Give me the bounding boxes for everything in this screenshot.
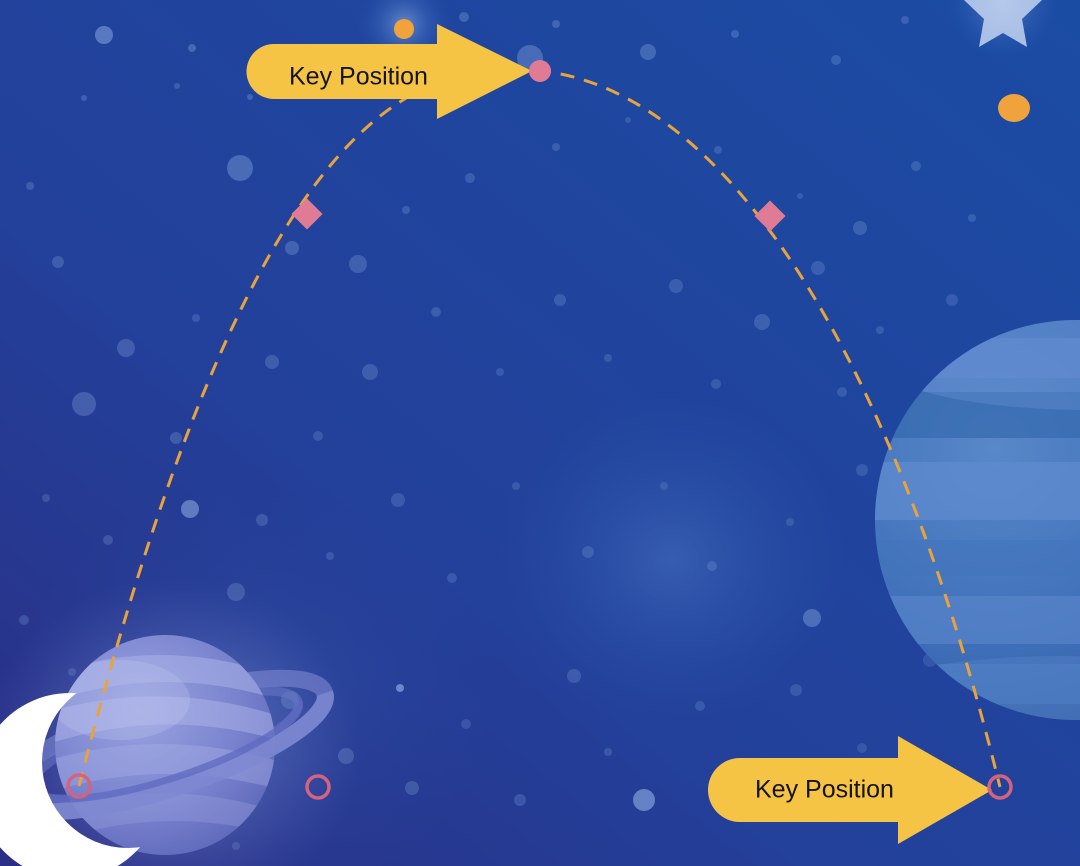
star-dot [326, 552, 334, 560]
star-dot [181, 500, 199, 518]
star-dot [188, 44, 196, 52]
nebula-glow [497, 395, 847, 725]
star-dot [554, 294, 566, 306]
star-dot [265, 355, 279, 369]
star-dot [831, 55, 841, 65]
star-dot [247, 94, 253, 100]
star-dot [695, 701, 705, 711]
key-position-label-bottom: Key Position [755, 776, 894, 804]
star-dot [911, 161, 921, 171]
star-dot [431, 307, 441, 317]
star-dot [117, 339, 135, 357]
space-trajectory-scene: Key Position Key Position [0, 0, 1080, 866]
star-dot [192, 314, 200, 322]
star-dot [901, 16, 909, 24]
star-dot [797, 193, 803, 199]
apex-marker[interactable] [529, 60, 551, 82]
star-dot [465, 173, 475, 183]
orange-planet [998, 94, 1030, 122]
star-dot [853, 221, 867, 235]
star-dot [52, 256, 64, 268]
star-dot [567, 669, 581, 683]
star-dot [633, 789, 655, 811]
star-dot [81, 95, 87, 101]
star-dot [856, 464, 868, 476]
star-dot [391, 493, 405, 507]
star-dot [95, 26, 113, 44]
star-dot [103, 535, 113, 545]
star-dot [786, 518, 794, 526]
star-dot [946, 294, 958, 306]
star-dot [552, 143, 560, 151]
star-dot [876, 326, 884, 334]
star-dot [405, 781, 419, 795]
star-dot [26, 182, 34, 190]
star-dot [256, 514, 268, 526]
star-dot [837, 387, 847, 397]
scene-canvas: Key Position Key Position [0, 0, 1080, 866]
star-dot [669, 279, 683, 293]
star-dot [811, 261, 825, 275]
star-dot [42, 494, 50, 502]
star-dot [625, 117, 631, 123]
star-dot [660, 482, 668, 490]
star-dot [72, 392, 96, 416]
star-dot [174, 83, 180, 89]
star-dot [711, 379, 721, 389]
star-dot [790, 684, 802, 696]
star-dot [512, 482, 520, 490]
star-dot [349, 255, 367, 273]
star-dot [731, 30, 739, 38]
star-dot [447, 573, 457, 583]
star-dot [313, 431, 323, 441]
star-dot [754, 314, 770, 330]
star-dot [461, 719, 471, 729]
star-dot [496, 368, 504, 376]
star-dot [968, 214, 976, 222]
star-dot [803, 609, 821, 627]
star-dot [459, 12, 469, 22]
star-dot [362, 364, 378, 380]
star-dot [514, 794, 526, 806]
star-dot [604, 748, 612, 756]
star-dot [857, 743, 867, 753]
star-dot [552, 20, 560, 28]
star-dot [170, 432, 182, 444]
star-dot [707, 561, 717, 571]
star-dot [714, 146, 722, 154]
star-dot [402, 206, 410, 214]
crescent-moon [0, 670, 240, 866]
star-dot [604, 354, 612, 362]
key-position-label-top: Key Position [289, 63, 428, 91]
star-dot [396, 684, 404, 692]
star-dot [285, 241, 299, 255]
star-dot [227, 155, 253, 181]
star-dot [640, 44, 656, 60]
star-dot [19, 615, 29, 625]
star-dot [582, 546, 594, 558]
